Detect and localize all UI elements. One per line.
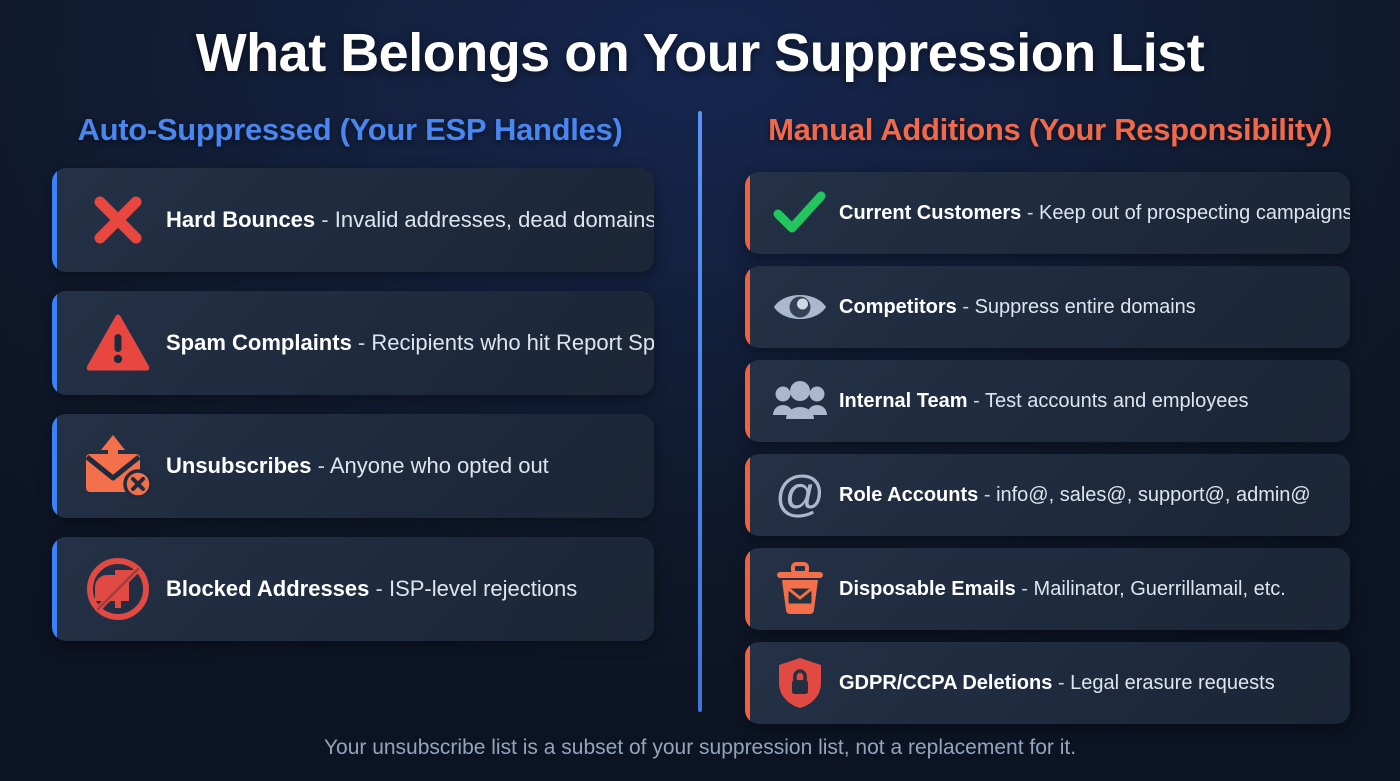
list-item-desc: Mailinator, Guerrillamail, etc. bbox=[1034, 578, 1286, 600]
warning-triangle-icon bbox=[70, 305, 166, 381]
list-item[interactable]: Competitors - Suppress entire domains bbox=[745, 266, 1350, 348]
list-item-dash: - bbox=[315, 207, 335, 232]
list-item-term: Competitors bbox=[839, 296, 957, 318]
footer-note: Your unsubscribe list is a subset of you… bbox=[0, 736, 1400, 760]
list-item-text: Disposable Emails - Mailinator, Guerrill… bbox=[839, 578, 1350, 601]
people-group-icon bbox=[761, 372, 839, 430]
list-item-term: Spam Complaints bbox=[166, 330, 352, 355]
list-item-text: Spam Complaints - Recipients who hit Rep… bbox=[166, 330, 654, 356]
list-item-dash: - bbox=[1016, 578, 1034, 600]
list-item-text: Competitors - Suppress entire domains bbox=[839, 296, 1350, 319]
list-item-desc: Invalid addresses, dead domains bbox=[335, 207, 654, 232]
list-item-text: Blocked Addresses - ISP-level rejections bbox=[166, 576, 654, 602]
list-item-term: Unsubscribes bbox=[166, 453, 312, 478]
list-item-desc: Keep out of prospecting campaigns bbox=[1039, 202, 1350, 224]
list-item-term: Current Customers bbox=[839, 202, 1021, 224]
list-item-text: GDPR/CCPA Deletions - Legal erasure requ… bbox=[839, 672, 1350, 695]
list-item-term: Role Accounts bbox=[839, 484, 978, 506]
list-item[interactable]: Disposable Emails - Mailinator, Guerrill… bbox=[745, 548, 1350, 630]
trash-envelope-icon bbox=[761, 560, 839, 618]
list-item-term: Hard Bounces bbox=[166, 207, 315, 232]
list-item-text: Unsubscribes - Anyone who opted out bbox=[166, 453, 654, 479]
list-item-dash: - bbox=[968, 390, 985, 412]
list-item-term: GDPR/CCPA Deletions bbox=[839, 672, 1052, 694]
list-item-desc: Legal erasure requests bbox=[1070, 672, 1275, 694]
list-item-term: Disposable Emails bbox=[839, 578, 1016, 600]
list-item-desc: Anyone who opted out bbox=[330, 453, 549, 478]
no-mailbox-icon bbox=[70, 551, 166, 627]
list-item[interactable]: @ Role Accounts - info@, sales@, support… bbox=[745, 454, 1350, 536]
list-item[interactable]: Internal Team - Test accounts and employ… bbox=[745, 360, 1350, 442]
list-item-dash: - bbox=[312, 453, 330, 478]
eye-icon bbox=[761, 278, 839, 336]
list-item-desc: info@, sales@, support@, admin@ bbox=[996, 484, 1311, 506]
list-item[interactable]: GDPR/CCPA Deletions - Legal erasure requ… bbox=[745, 642, 1350, 724]
list-item-term: Internal Team bbox=[839, 390, 968, 412]
list-item-desc: Test accounts and employees bbox=[985, 390, 1249, 412]
page-title: What Belongs on Your Suppression List bbox=[0, 22, 1400, 84]
infographic-canvas: What Belongs on Your Suppression List Au… bbox=[0, 0, 1400, 781]
list-item-desc: Suppress entire domains bbox=[975, 296, 1196, 318]
list-item[interactable]: Hard Bounces - Invalid addresses, dead d… bbox=[52, 168, 654, 272]
list-item[interactable]: Spam Complaints - Recipients who hit Rep… bbox=[52, 291, 654, 395]
green-check-icon bbox=[761, 184, 839, 242]
list-item-text: Internal Team - Test accounts and employ… bbox=[839, 390, 1350, 413]
list-item-desc: Recipients who hit Report Spam bbox=[371, 330, 654, 355]
auto-suppressed-list: Hard Bounces - Invalid addresses, dead d… bbox=[52, 168, 654, 641]
red-x-icon bbox=[70, 182, 166, 258]
list-item-dash: - bbox=[369, 576, 389, 601]
column-divider bbox=[698, 111, 702, 712]
list-item-dash: - bbox=[1021, 202, 1039, 224]
list-item[interactable]: Unsubscribes - Anyone who opted out bbox=[52, 414, 654, 518]
right-column-heading: Manual Additions (Your Responsibility) bbox=[700, 112, 1400, 148]
list-item-text: Hard Bounces - Invalid addresses, dead d… bbox=[166, 207, 654, 233]
at-sign-icon: @ bbox=[761, 466, 839, 524]
svg-text:@: @ bbox=[775, 469, 826, 521]
list-item-desc: ISP-level rejections bbox=[389, 576, 577, 601]
manual-additions-list: Current Customers - Keep out of prospect… bbox=[745, 172, 1350, 724]
shield-lock-icon bbox=[761, 654, 839, 712]
list-item-text: Role Accounts - info@, sales@, support@,… bbox=[839, 484, 1350, 507]
list-item-dash: - bbox=[1052, 672, 1070, 694]
list-item-term: Blocked Addresses bbox=[166, 576, 369, 601]
left-column-heading: Auto-Suppressed (Your ESP Handles) bbox=[0, 112, 700, 148]
list-item[interactable]: Blocked Addresses - ISP-level rejections bbox=[52, 537, 654, 641]
list-item[interactable]: Current Customers - Keep out of prospect… bbox=[745, 172, 1350, 254]
list-item-dash: - bbox=[978, 484, 996, 506]
list-item-dash: - bbox=[957, 296, 975, 318]
list-item-dash: - bbox=[352, 330, 372, 355]
unsubscribe-envelope-icon bbox=[70, 428, 166, 504]
list-item-text: Current Customers - Keep out of prospect… bbox=[839, 202, 1350, 225]
